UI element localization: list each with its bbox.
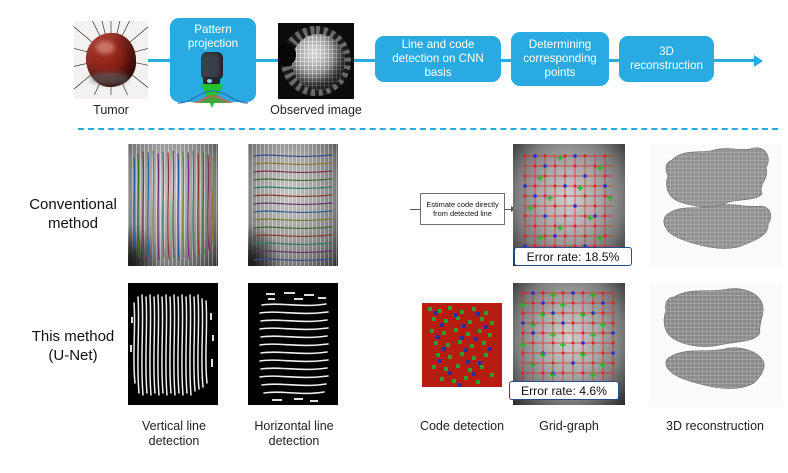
panel-unet-3d-reconstruction: [650, 283, 782, 407]
stage-label: 3D reconstruction: [624, 45, 709, 73]
row-label-this-method-unet: This method (U-Net): [14, 328, 132, 366]
mesh-render-pair: [650, 144, 782, 268]
connector-tumor-to-projection: [148, 59, 170, 62]
stage-line-code-detection[interactable]: Line and code detection on CNN basis: [375, 36, 501, 82]
unet-horizontal-mask-lines: [248, 283, 338, 405]
error-rate-label: Error rate: 18.5%: [527, 250, 620, 264]
caption-3d-reconstruction: 3D reconstruction: [642, 419, 788, 434]
tumor-highlight: [96, 41, 115, 53]
section-divider: [78, 128, 778, 130]
row-label-line2: method: [48, 215, 98, 232]
estimate-code-note-text: Estimate code directly from detected lin…: [423, 200, 502, 219]
connector-observed-to-stage1: [354, 59, 375, 62]
stage-3d-reconstruction[interactable]: 3D reconstruction: [619, 36, 714, 82]
panel-conventional-3d-reconstruction: [650, 144, 782, 268]
caption-horizontal-line-detection: Horizontal line detection: [244, 419, 344, 449]
row-label-line1: Conventional: [29, 196, 117, 213]
projection-surface-icon: [178, 88, 248, 104]
detected-horizontal-lines: [248, 144, 338, 266]
mesh-render-pair: [650, 283, 782, 407]
caption-text: Vertical line detection: [142, 419, 206, 448]
caption-grid-graph: Grid-graph: [513, 419, 625, 434]
panel-conventional-horizontal-line-detection: [248, 144, 338, 266]
unet-vertical-mask-lines: [128, 283, 218, 405]
connector-projection-to-observed: [256, 59, 278, 62]
projector-body-icon: [201, 52, 223, 80]
figure-root: Tumor Pattern projection Observed image …: [0, 0, 788, 473]
pipeline-arrow-icon: [754, 55, 763, 67]
connector-stage1-to-stage2: [501, 59, 511, 62]
caption-text: Grid-graph: [539, 419, 599, 433]
row-label-conventional-method: Conventional method: [14, 196, 132, 234]
code-detection-patches: [422, 303, 502, 387]
pattern-projection-label: Pattern projection: [175, 20, 251, 51]
caption-tumor: Tumor: [74, 103, 148, 118]
caption-text: 3D reconstruction: [666, 419, 764, 433]
connector-stage2-to-stage3: [609, 59, 619, 62]
caption-text: Code detection: [420, 419, 504, 433]
row-label-line2: (U-Net): [48, 347, 97, 364]
observed-image: [278, 23, 354, 99]
detected-vertical-lines: [128, 144, 218, 266]
panel-unet-horizontal-line-detection: [248, 283, 338, 405]
panel-unet-vertical-line-detection: [128, 283, 218, 405]
panel-conventional-vertical-line-detection: [128, 144, 218, 266]
error-rate-label: Error rate: 4.6%: [521, 384, 607, 398]
caption-vertical-line-detection: Vertical line detection: [128, 419, 220, 449]
error-rate-unet: Error rate: 4.6%: [509, 381, 619, 400]
caption-text: Horizontal line detection: [254, 419, 333, 448]
caption-observed-image: Observed image: [266, 103, 366, 118]
stage-corresponding-points[interactable]: Determining corresponding points: [511, 32, 609, 86]
error-rate-conventional: Error rate: 18.5%: [514, 247, 632, 266]
observed-speckle-sphere: [292, 34, 345, 90]
stage-label: Determining corresponding points: [516, 38, 604, 80]
row-label-line1: This method: [32, 328, 115, 345]
estimate-code-note: Estimate code directly from detected lin…: [420, 193, 505, 225]
observed-dark-hole: [278, 43, 296, 66]
stage-label: Line and code detection on CNN basis: [380, 38, 496, 80]
note-line-left: [410, 209, 420, 210]
panel-unet-code-detection: [422, 303, 502, 387]
caption-code-detection: Code detection: [418, 419, 506, 434]
connector-stage3-to-output: [714, 59, 756, 62]
tumor-photo: [74, 21, 148, 99]
